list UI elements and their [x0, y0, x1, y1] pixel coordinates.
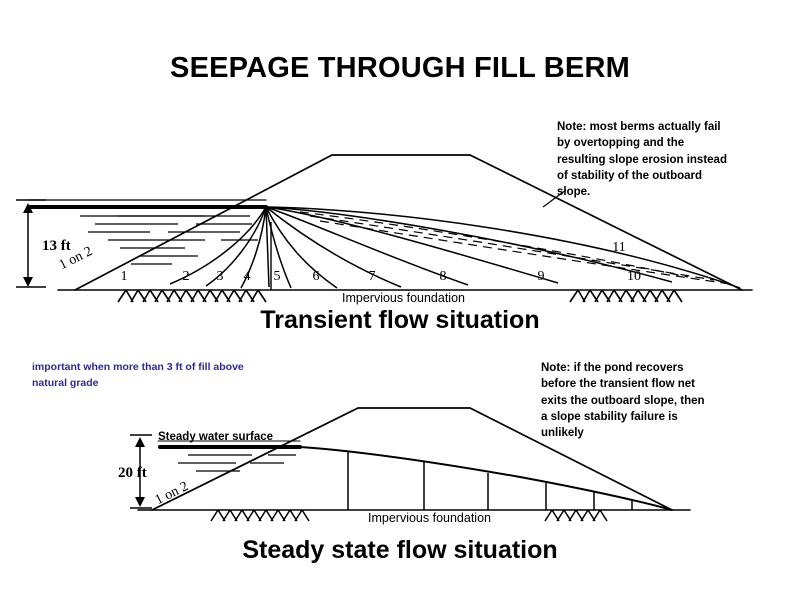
note-overtopping: Note: most berms actually fail by overto…	[557, 119, 782, 201]
foundation-hatch-left	[118, 290, 266, 302]
foundation-hatch-right	[570, 290, 682, 302]
diagram-canvas: SEEPAGE THROUGH FILL BERM	[0, 0, 800, 600]
caption-steady-state: Steady state flow situation	[0, 536, 800, 565]
dimension-label-20ft: 20 ft	[118, 465, 147, 482]
steady-water-surface-label: Steady water surface	[158, 431, 273, 443]
flow-line-number: 6	[313, 269, 320, 285]
flow-line-number: 9	[538, 269, 545, 285]
foundation-label-steady: Impervious foundation	[368, 511, 491, 525]
flow-line-number: 10	[627, 269, 641, 285]
flow-line-number: 5	[274, 269, 281, 285]
flow-line-number: 7	[369, 269, 376, 285]
flow-net-equipotentials	[300, 212, 730, 284]
note-fill-above-grade: important when more than 3 ft of fill ab…	[32, 360, 332, 392]
foundation-label-transient: Impervious foundation	[342, 291, 465, 305]
dimension-label-13ft: 13 ft	[42, 238, 71, 255]
foundation-hatch-steady-right	[545, 510, 607, 521]
equipotential-lines-steady	[348, 451, 632, 510]
foundation-hatch-steady-left	[211, 510, 309, 521]
phreatic-line	[300, 447, 672, 510]
flow-line-number: 4	[244, 269, 251, 285]
flow-line-number: 2	[183, 269, 190, 285]
caption-transient-flow: Transient flow situation	[0, 306, 800, 335]
water-hatching	[80, 216, 258, 264]
flow-line-number: 11	[612, 240, 625, 256]
flow-line-number: 3	[217, 269, 224, 285]
flow-line-number: 8	[440, 269, 447, 285]
flow-line-number: 1	[121, 269, 128, 285]
